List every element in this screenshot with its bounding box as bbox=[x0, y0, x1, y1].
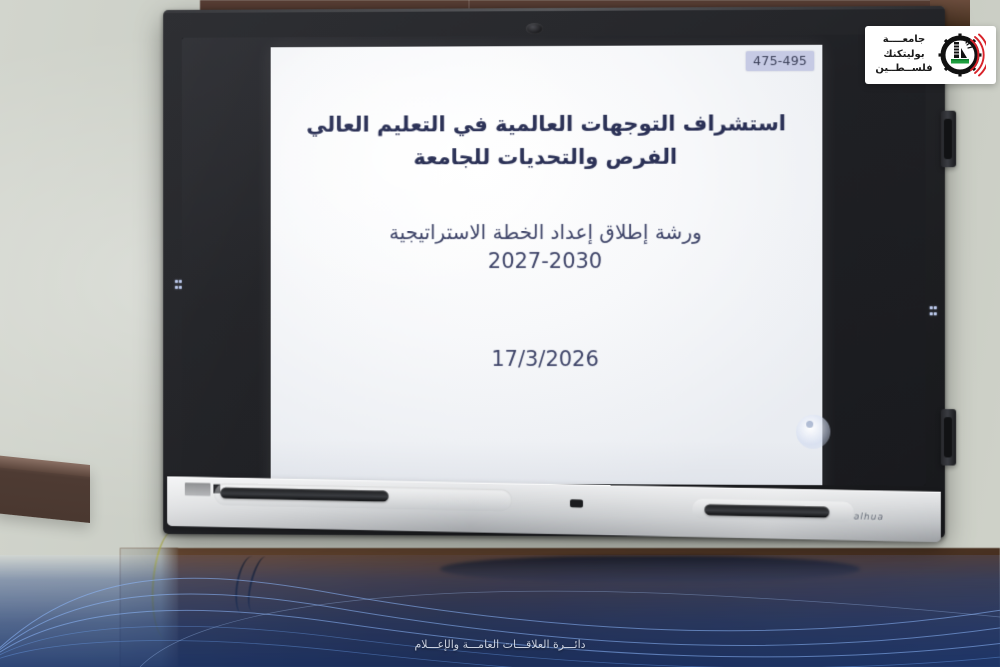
display-screen[interactable]: 475-495 استشراف التوجهات العالمية في الت… bbox=[182, 34, 926, 485]
logo-line-3: فلســطــين bbox=[875, 62, 932, 77]
panel-brand-logo: alhua bbox=[854, 512, 884, 523]
logo-line-1: جامعــــة bbox=[875, 33, 932, 48]
carry-handle-top[interactable] bbox=[941, 111, 956, 167]
slide-title-line-2: الفرص والتحديات للجامعة bbox=[298, 140, 794, 174]
status-leds-right bbox=[930, 306, 938, 318]
screenshot-root: 475-495 استشراف التوجهات العالمية في الت… bbox=[0, 0, 1000, 667]
screen-glare-core bbox=[806, 421, 813, 428]
slide-bottom-shading bbox=[271, 439, 823, 486]
panel-label-sticker bbox=[185, 483, 211, 496]
slide-badge[interactable]: 475-495 bbox=[746, 51, 814, 71]
handle-slot bbox=[944, 119, 952, 159]
university-logo-card: جامعــــة بوليتكنك فلســطــين bbox=[865, 26, 996, 84]
desk-reflection bbox=[440, 556, 860, 582]
slide-subtitle: ورشة إطلاق إعداد الخطة الاستراتيجية bbox=[271, 217, 823, 247]
presentation-slide[interactable]: 475-495 استشراف التوجهات العالمية في الت… bbox=[271, 45, 823, 486]
ir-sensor bbox=[570, 499, 583, 507]
slide-plan-years: 2027-2030 bbox=[271, 249, 823, 273]
camera-icon bbox=[526, 23, 543, 34]
ppu-gear-emblem-icon bbox=[938, 31, 986, 79]
university-logo-text: جامعــــة بوليتكنك فلســطــين bbox=[875, 33, 932, 77]
slide-content: استشراف التوجهات العالمية في التعليم الع… bbox=[271, 107, 823, 372]
logo-line-2: بوليتكنك bbox=[875, 48, 932, 63]
interactive-flat-panel[interactable]: 475-495 استشراف التوجهات العالمية في الت… bbox=[163, 6, 945, 538]
handle-slot bbox=[944, 417, 952, 457]
slide-title: استشراف التوجهات العالمية في التعليم الع… bbox=[271, 107, 823, 174]
carry-handle-bottom[interactable] bbox=[941, 409, 956, 465]
slide-date: 17/3/2026 bbox=[271, 347, 823, 372]
slide-title-line-1: استشراف التوجهات العالمية في التعليم الع… bbox=[298, 107, 794, 141]
